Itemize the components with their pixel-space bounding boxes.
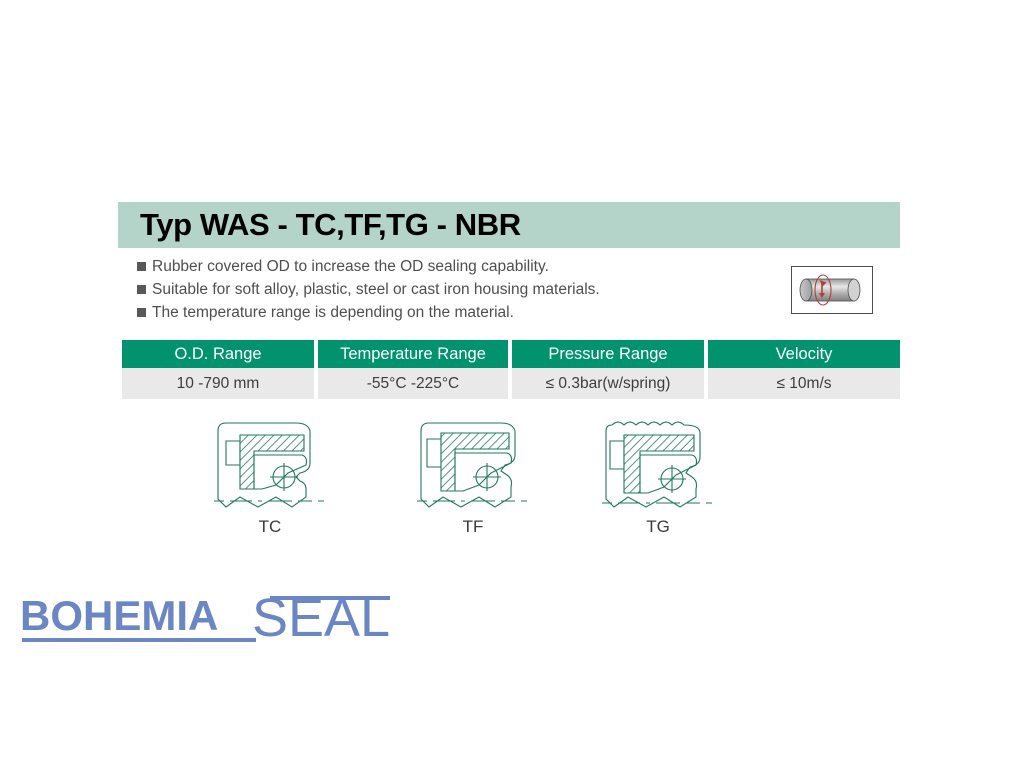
seal-cross-section-tg-icon <box>588 415 728 520</box>
seal-label-tf: TF <box>403 517 543 537</box>
feature-text: Suitable for soft alloy, plastic, steel … <box>152 279 600 301</box>
list-item: The temperature range is depending on th… <box>137 302 757 325</box>
seal-label-tg: TG <box>588 517 728 537</box>
title-banner: Typ WAS - TC,TF,TG - NBR <box>118 202 900 248</box>
seal-diagram-tg: TG <box>588 415 728 555</box>
column-header-temperature-range: Temperature Range <box>318 340 508 368</box>
seal-cross-section-tc-icon <box>200 415 340 520</box>
list-item: Suitable for soft alloy, plastic, steel … <box>137 279 757 302</box>
specification-table: O.D. Range Temperature Range Pressure Ra… <box>118 340 904 399</box>
logo-primary-text: BOHEMIA <box>20 592 218 639</box>
seal-diagram-tf: TF <box>403 415 543 555</box>
column-header-pressure-range: Pressure Range <box>512 340 704 368</box>
cell-od-range: 10 -790 mm <box>122 368 314 399</box>
seal-diagram-tc: TC <box>200 415 340 555</box>
bullet-square-icon <box>137 308 146 317</box>
feature-text: The temperature range is depending on th… <box>152 302 514 324</box>
bohemia-seal-logo-icon: BOHEMIA SEAL <box>18 588 418 646</box>
list-item: Rubber covered OD to increase the OD sea… <box>137 256 757 279</box>
table-row: 10 -790 mm -55°C -225°C ≤ 0.3bar(w/sprin… <box>122 368 900 399</box>
seal-diagram-group: TC <box>118 415 876 555</box>
bullet-square-icon <box>137 262 146 271</box>
feature-list: Rubber covered OD to increase the OD sea… <box>137 256 757 325</box>
feature-text: Rubber covered OD to increase the OD sea… <box>152 256 549 278</box>
seal-label-tc: TC <box>200 517 340 537</box>
cell-velocity: ≤ 10m/s <box>708 368 900 399</box>
rotating-shaft-icon <box>792 267 872 313</box>
cell-pressure-range: ≤ 0.3bar(w/spring) <box>512 368 704 399</box>
bullet-square-icon <box>137 285 146 294</box>
page-title: Typ WAS - TC,TF,TG - NBR <box>140 207 521 243</box>
company-logo: BOHEMIA SEAL <box>18 588 418 646</box>
column-header-od-range: O.D. Range <box>122 340 314 368</box>
datasheet-page: Typ WAS - TC,TF,TG - NBR Rubber covered … <box>0 0 1024 768</box>
table-header-row: O.D. Range Temperature Range Pressure Ra… <box>122 340 900 368</box>
column-header-velocity: Velocity <box>708 340 900 368</box>
rotating-shaft-icon-box <box>791 266 873 314</box>
seal-cross-section-tf-icon <box>403 415 543 520</box>
cell-temperature-range: -55°C -225°C <box>318 368 508 399</box>
